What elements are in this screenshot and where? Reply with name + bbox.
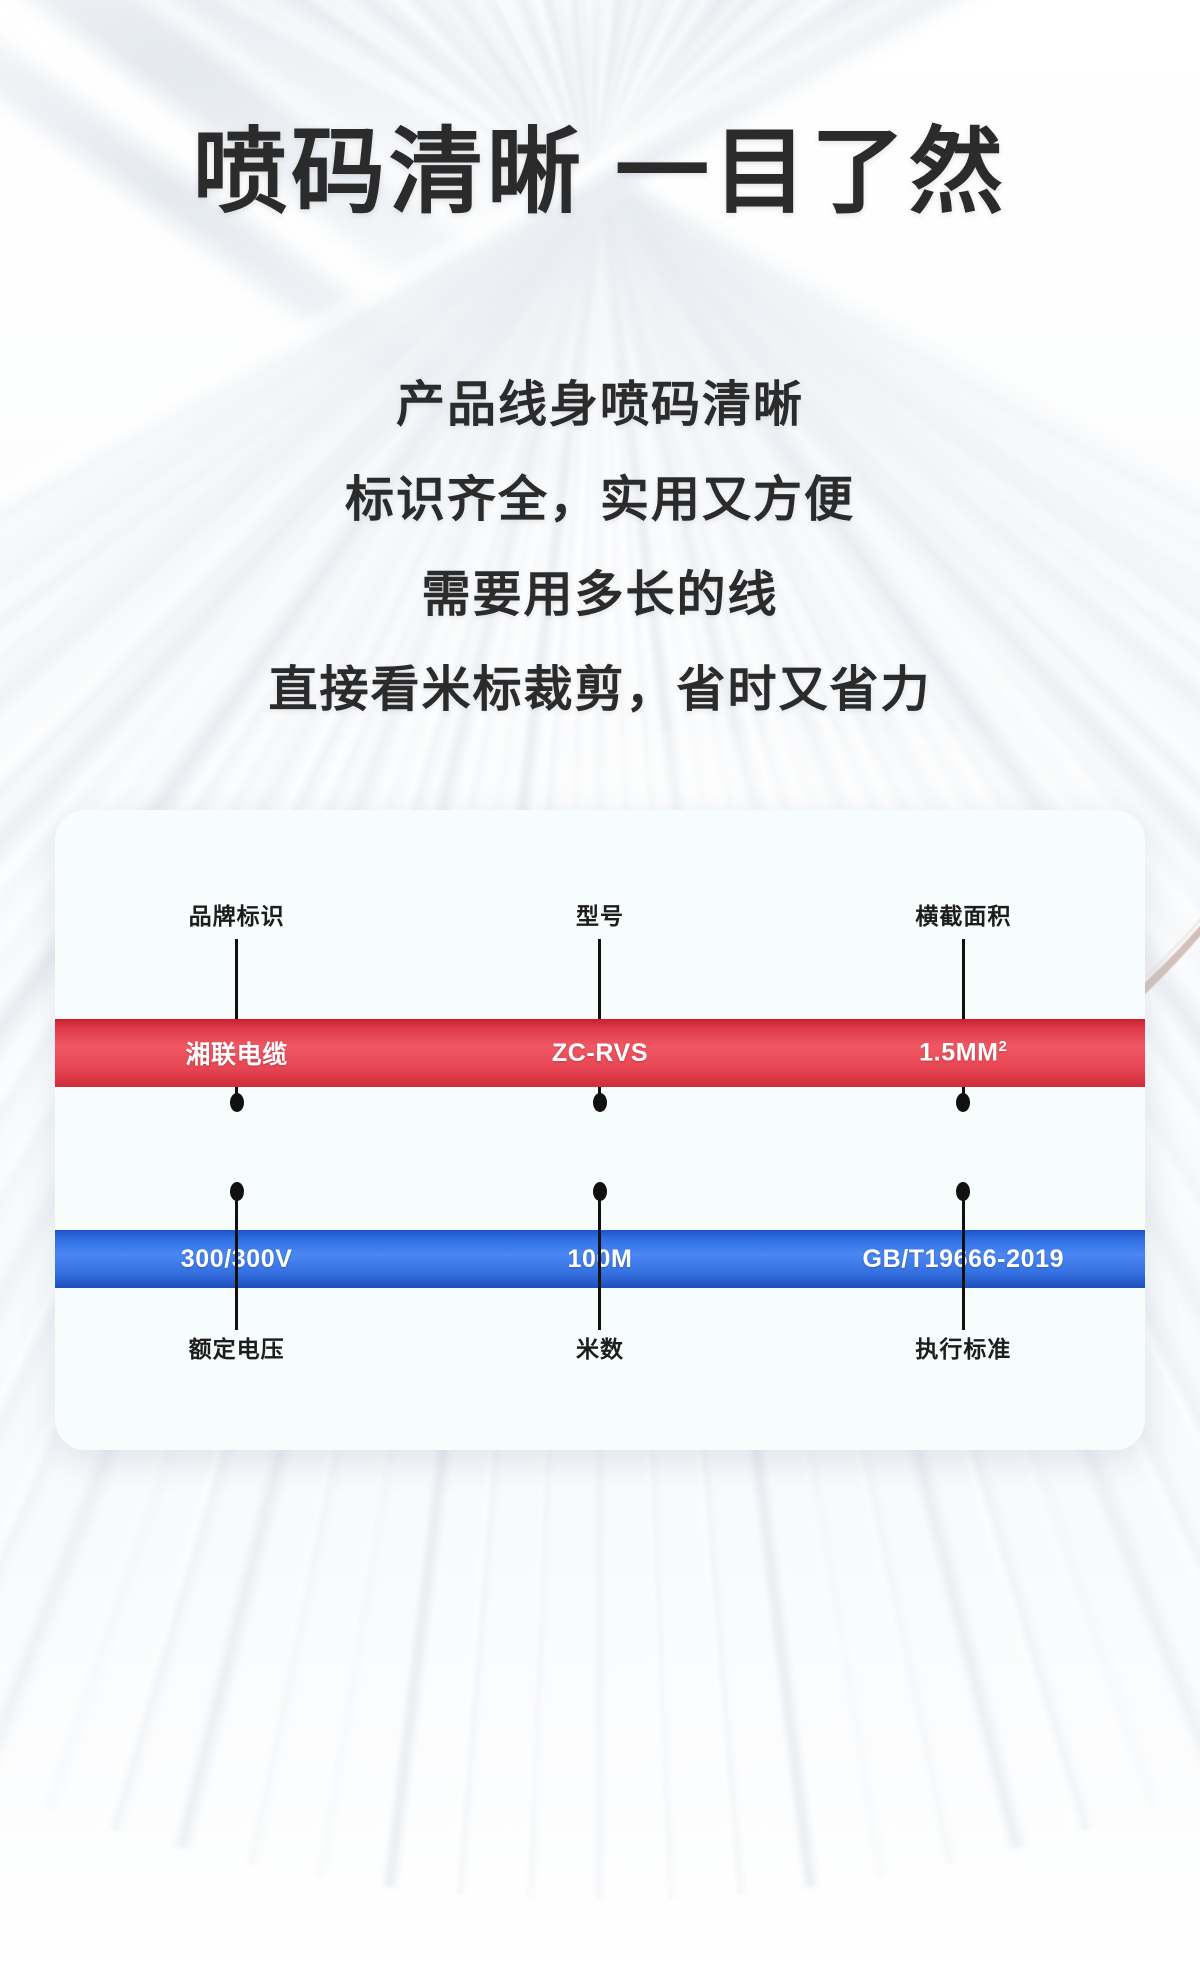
- callout-meter-count-label: 米数: [576, 1330, 624, 1364]
- leader-line: [598, 1190, 601, 1330]
- bottom-callout-labels: 额定电压 米数 执行标准: [55, 1330, 1145, 1364]
- subheading-line-3: 需要用多长的线: [0, 548, 1200, 643]
- subheading-block: 产品线身喷码清晰 标识齐全，实用又方便 需要用多长的线 直接看米标裁剪，省时又省…: [0, 358, 1200, 738]
- callout-rated-voltage-label: 额定电压: [189, 1330, 285, 1364]
- red-band-brand: 湘联电缆: [55, 1035, 418, 1071]
- callout-rated-voltage: 额定电压: [55, 1330, 418, 1364]
- red-band-model: ZC-RVS: [418, 1039, 781, 1068]
- cable-marking-diagram-card: 品牌标识 型号 横截面积 湘联电缆 ZC-RVS 1.5MM2 300/300V: [55, 810, 1145, 1450]
- page-headline: 喷码清晰 一目了然: [0, 122, 1200, 222]
- red-band-model-text: ZC-RVS: [552, 1039, 648, 1067]
- callout-model-label: 型号: [576, 897, 624, 931]
- leader-line: [962, 1190, 965, 1330]
- callout-meter-count: 米数: [418, 1330, 781, 1364]
- leader-dot: [230, 1093, 244, 1112]
- callout-cross-section: 横截面积: [782, 897, 1145, 931]
- leader-dot: [956, 1093, 970, 1112]
- red-band-cross-section-sup: 2: [999, 1038, 1008, 1055]
- callout-standard: 执行标准: [782, 1330, 1145, 1364]
- red-band-cross-section-text: 1.5MM: [919, 1039, 998, 1067]
- subheading-line-2: 标识齐全，实用又方便: [0, 453, 1200, 548]
- callout-model: 型号: [418, 897, 781, 931]
- red-band-brand-text: 湘联电缆: [185, 1041, 287, 1069]
- red-cable-band: 湘联电缆 ZC-RVS 1.5MM2: [55, 1019, 1145, 1087]
- subheading-line-1: 产品线身喷码清晰: [0, 358, 1200, 453]
- leader-dot: [593, 1093, 607, 1112]
- callout-brand: 品牌标识: [55, 897, 418, 931]
- callout-standard-label: 执行标准: [915, 1330, 1011, 1364]
- callout-brand-label: 品牌标识: [189, 897, 285, 931]
- leader-line: [235, 1190, 238, 1330]
- subheading-line-4: 直接看米标裁剪，省时又省力: [0, 643, 1200, 738]
- red-band-cross-section: 1.5MM2: [782, 1038, 1145, 1067]
- top-callout-labels: 品牌标识 型号 横截面积: [55, 897, 1145, 931]
- callout-cross-section-label: 横截面积: [915, 897, 1011, 931]
